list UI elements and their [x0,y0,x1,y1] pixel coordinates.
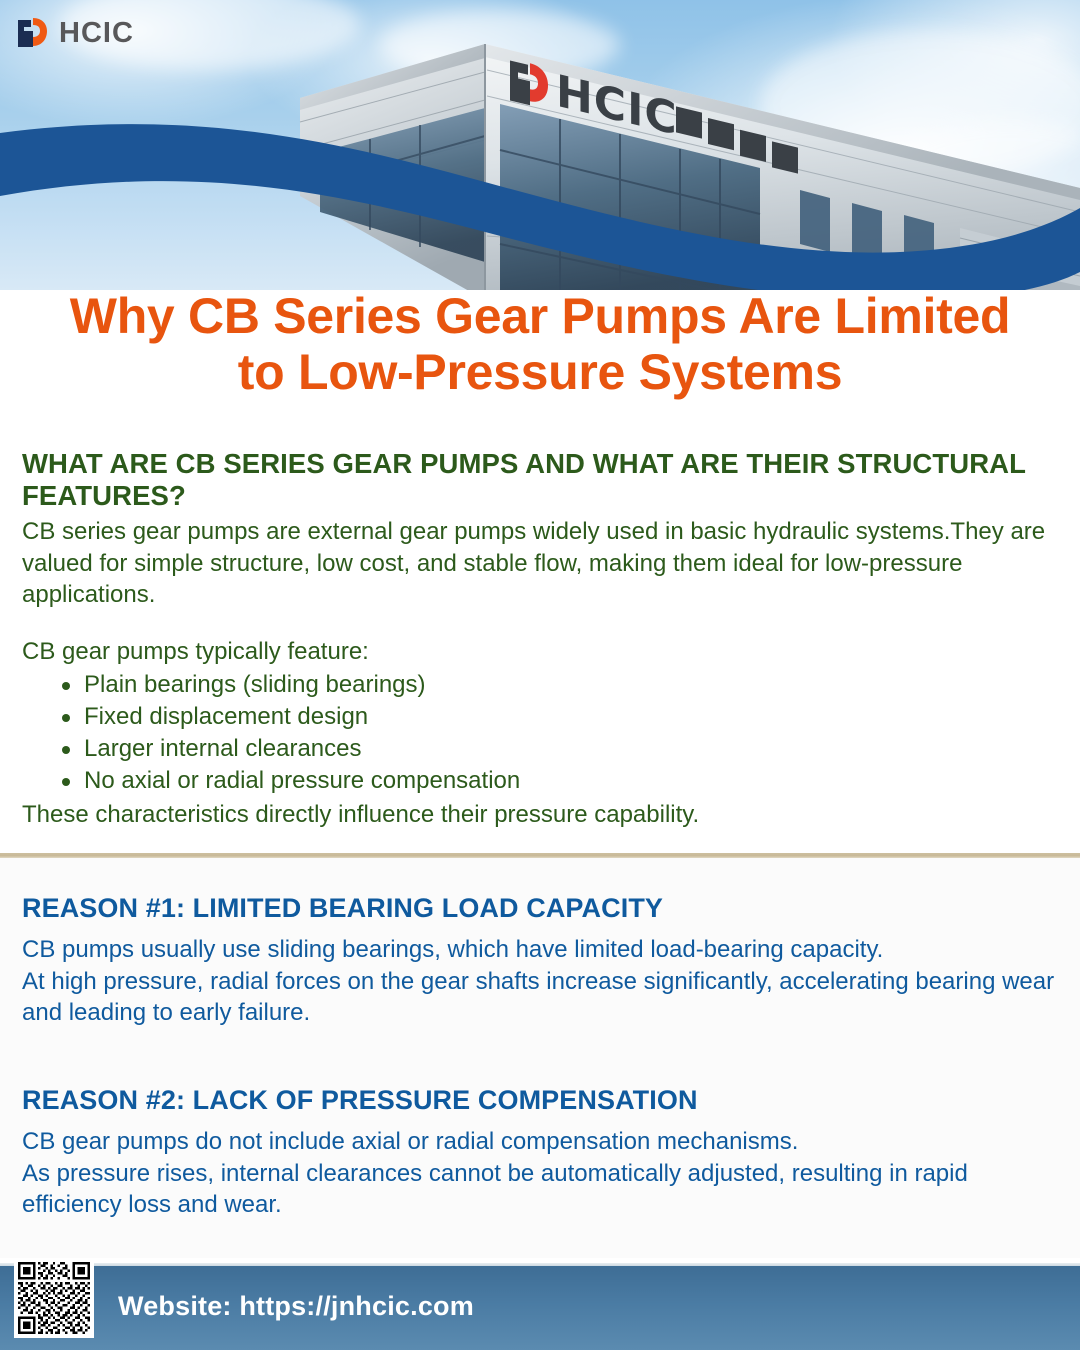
website-url[interactable]: Website: https://jnhcic.com [118,1291,474,1322]
page-title-line1: Why CB Series Gear Pumps Are Limited [18,288,1062,344]
list-item: Plain bearings (sliding bearings) [60,669,1060,701]
hero-banner: HCIC HCIC [0,0,1080,290]
brand-logo-text: HCIC [59,19,134,48]
infographic-page: HCIC HCIC Why CB S [0,0,1080,1350]
reason-1-heading: REASON #1: LIMITED BEARING LOAD CAPACITY [22,892,1060,924]
blue-wave-band [0,0,1080,290]
list-item: Larger internal clearances [60,733,1060,765]
reason-block-2: REASON #2: LACK OF PRESSURE COMPENSATION… [22,1084,1060,1220]
reason-2-heading: REASON #2: LACK OF PRESSURE COMPENSATION [22,1084,1060,1116]
list-item: No axial or radial pressure compensation [60,765,1060,797]
hcic-logo-mark-icon [16,16,50,50]
list-item: Fixed displacement design [60,701,1060,733]
green-section-closing: These characteristics directly influence… [22,799,1060,830]
qr-code-icon[interactable] [14,1258,94,1338]
feature-list: Plain bearings (sliding bearings) Fixed … [22,669,1060,797]
section-reasons: REASON #1: LIMITED BEARING LOAD CAPACITY… [0,858,1080,1258]
footer-bar: Website: https://jnhcic.com [0,1263,1080,1350]
reason-block-1: REASON #1: LIMITED BEARING LOAD CAPACITY… [22,892,1060,1028]
section-what-are-cb-pumps: WHAT ARE CB SERIES GEAR PUMPS AND WHAT A… [22,448,1060,830]
green-list-intro: CB gear pumps typically feature: [22,636,1060,667]
qr-code-graphic [18,1262,90,1334]
reason-2-body: CB gear pumps do not include axial or ra… [22,1126,1060,1220]
page-title-line2: to Low-Pressure Systems [18,344,1062,400]
green-section-paragraph: CB series gear pumps are external gear p… [22,516,1060,610]
green-section-heading: WHAT ARE CB SERIES GEAR PUMPS AND WHAT A… [22,448,1060,512]
reason-1-body: CB pumps usually use sliding bearings, w… [22,934,1060,1028]
brand-logo: HCIC [16,16,134,50]
page-title: Why CB Series Gear Pumps Are Limited to … [0,288,1080,400]
